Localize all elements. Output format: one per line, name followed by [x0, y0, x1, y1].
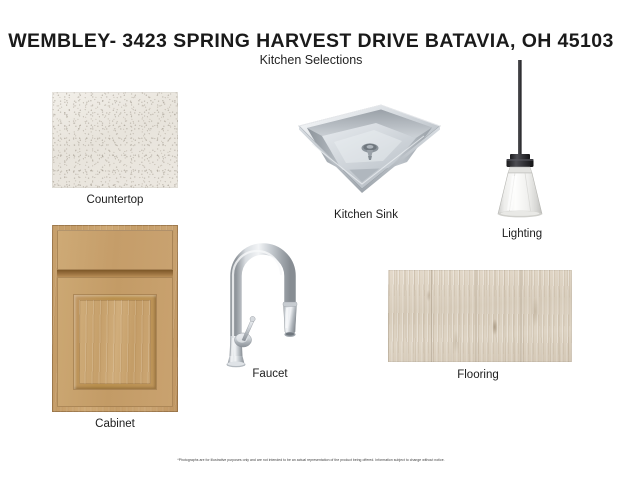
- countertop-label: Countertop: [22, 194, 208, 206]
- page-title: WEMBLEY- 3423 SPRING HARVEST DRIVE BATAV…: [0, 30, 622, 53]
- kitchen-sink-image: [282, 96, 450, 206]
- selection-item-lighting: Lighting: [462, 60, 582, 245]
- pendant-light-image: [462, 60, 582, 225]
- lighting-label: Lighting: [462, 228, 582, 240]
- selection-item-flooring: Flooring: [380, 270, 576, 400]
- selection-item-kitchen-sink: Kitchen Sink: [282, 96, 450, 226]
- footer-disclaimer: *Photographs are for illustrative purpos…: [0, 458, 622, 462]
- cabinet-label: Cabinet: [22, 418, 208, 430]
- kitchen-sink-label: Kitchen Sink: [282, 209, 450, 221]
- faucet-image: [206, 228, 334, 368]
- flooring-label: Flooring: [380, 369, 576, 381]
- flooring-swatch: [388, 270, 572, 362]
- selection-item-cabinet: Cabinet: [22, 225, 208, 430]
- faucet-label: Faucet: [206, 368, 334, 380]
- selection-item-faucet: Faucet: [206, 228, 334, 388]
- countertop-swatch: [52, 92, 178, 188]
- cabinet-door-image: [52, 225, 178, 412]
- selection-item-countertop: Countertop: [22, 92, 208, 207]
